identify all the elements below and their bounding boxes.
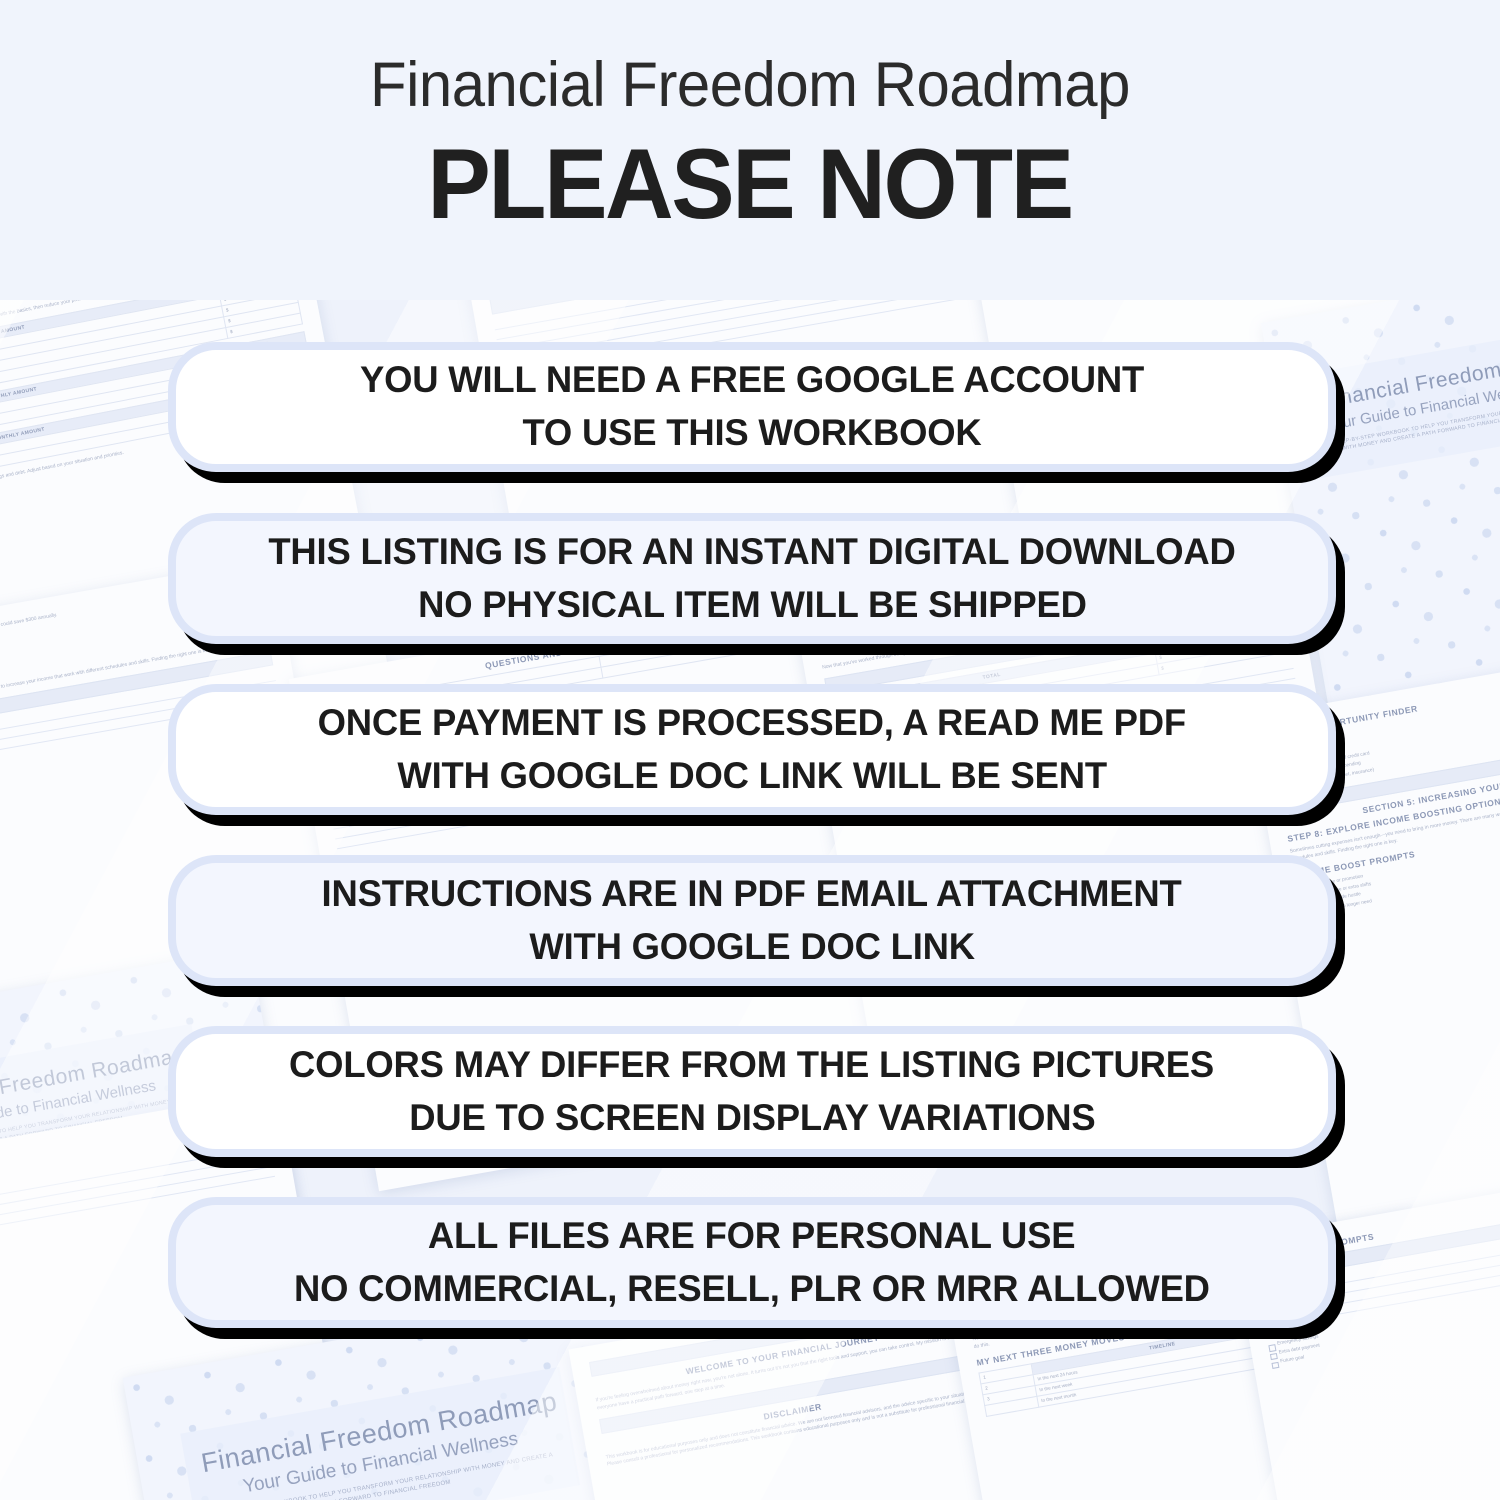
note-card-line-2: DUE TO SCREEN DISPLAY VARIATIONS — [409, 1092, 1095, 1145]
note-card-google-account[interactable]: YOU WILL NEED A FREE GOOGLE ACCOUNT TO U… — [168, 342, 1336, 472]
note-card-line-1: THIS LISTING IS FOR AN INSTANT DIGITAL D… — [268, 526, 1235, 579]
note-card-line-2: WITH GOOGLE DOC LINK WILL BE SENT — [397, 750, 1107, 803]
note-card-line-2: NO PHYSICAL ITEM WILL BE SHIPPED — [418, 579, 1087, 632]
note-card-personal-use[interactable]: ALL FILES ARE FOR PERSONAL USE NO COMMER… — [168, 1197, 1336, 1328]
mockup-cover-box: Financial Freedom Roadmap Your Guide to … — [180, 1367, 580, 1500]
note-card-line-2: TO USE THIS WORKBOOK — [522, 407, 981, 460]
note-card-colors-may-differ[interactable]: COLORS MAY DIFFER FROM THE LISTING PICTU… — [168, 1026, 1336, 1157]
note-card-line-1: INSTRUCTIONS ARE IN PDF EMAIL ATTACHMENT — [322, 868, 1182, 921]
note-card-line-1: YOU WILL NEED A FREE GOOGLE ACCOUNT — [360, 354, 1144, 407]
note-card-line-2: WITH GOOGLE DOC LINK — [529, 921, 975, 974]
note-card-instructions[interactable]: INSTRUCTIONS ARE IN PDF EMAIL ATTACHMENT… — [168, 855, 1336, 986]
note-card-instant-download[interactable]: THIS LISTING IS FOR AN INSTANT DIGITAL D… — [168, 513, 1336, 644]
page-title: PLEASE NOTE — [428, 129, 1072, 240]
header: Financial Freedom Roadmap PLEASE NOTE — [0, 0, 1500, 300]
note-card-line-1: ONCE PAYMENT IS PROCESSED, A READ ME PDF — [318, 697, 1186, 750]
note-card-line-1: COLORS MAY DIFFER FROM THE LISTING PICTU… — [290, 1039, 1215, 1092]
note-card-line-2: NO COMMERCIAL, RESELL, PLR OR MRR ALLOWE… — [294, 1263, 1210, 1316]
page-subtitle: Financial Freedom Roadmap — [370, 52, 1130, 119]
page-root: YOUR BASIC SPENDING PLAN If your total s… — [0, 0, 1500, 1500]
note-card-line-1: ALL FILES ARE FOR PERSONAL USE — [428, 1210, 1075, 1263]
note-card-read-me-pdf[interactable]: ONCE PAYMENT IS PROCESSED, A READ ME PDF… — [168, 684, 1336, 815]
